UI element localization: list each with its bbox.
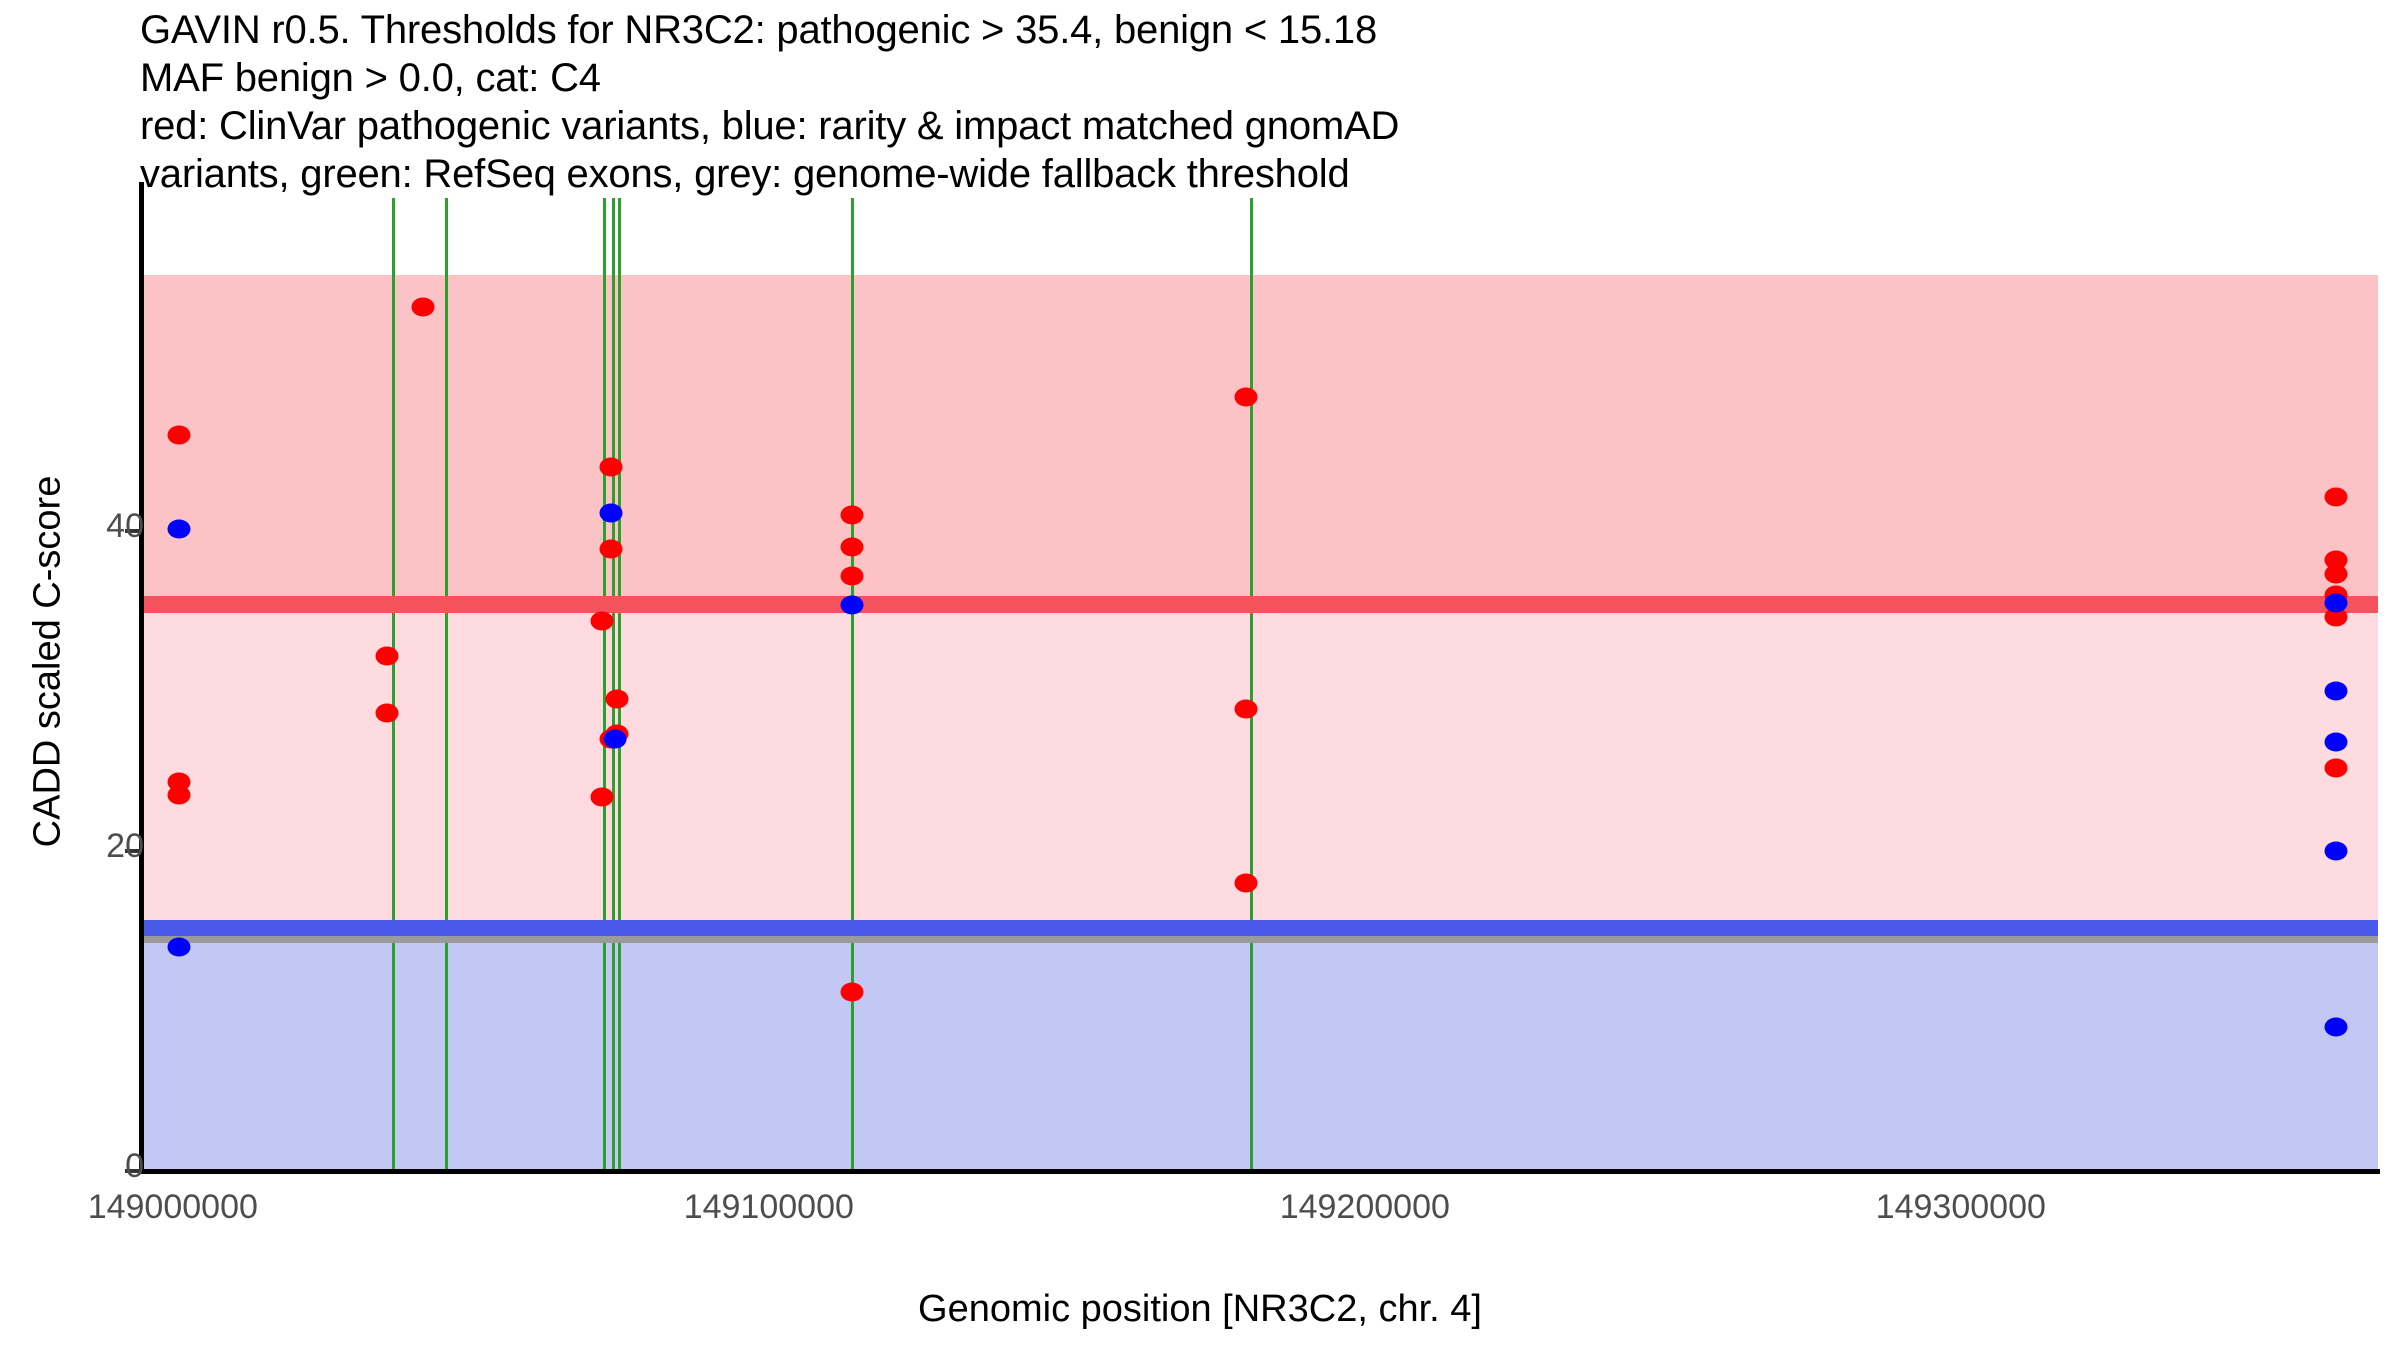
data-point-red xyxy=(2325,565,2348,584)
gavin-cadd-scatter-figure: GAVIN r0.5. Thresholds for NR3C2: pathog… xyxy=(0,0,2400,1350)
data-point-red xyxy=(841,982,864,1001)
pathogenic-threshold-line xyxy=(143,596,2378,613)
exon-line-5 xyxy=(618,198,621,1171)
y-axis-line xyxy=(139,182,144,1173)
data-point-red xyxy=(599,458,622,477)
exon-line-3 xyxy=(603,198,606,1171)
y-tick-label-20: 20 xyxy=(106,827,144,866)
band-benign xyxy=(143,939,2378,1171)
y-tick-label-0: 0 xyxy=(125,1147,144,1186)
x-tick-label-149200000: 149200000 xyxy=(1280,1188,1450,1227)
data-point-blue xyxy=(599,504,622,523)
data-point-red xyxy=(2325,488,2348,507)
exon-line-1 xyxy=(392,198,395,1171)
data-point-red xyxy=(2325,758,2348,777)
data-point-blue xyxy=(2325,594,2348,613)
exon-line-4 xyxy=(612,198,615,1171)
exon-line-6 xyxy=(851,198,854,1171)
data-point-red xyxy=(590,787,613,806)
data-point-blue xyxy=(2325,842,2348,861)
data-point-red xyxy=(376,646,399,665)
x-tick-label-149000000: 149000000 xyxy=(88,1188,258,1227)
data-point-red xyxy=(841,506,864,525)
data-point-red xyxy=(841,566,864,585)
data-point-red xyxy=(167,786,190,805)
data-point-red xyxy=(1234,699,1257,718)
exon-line-7 xyxy=(1250,198,1253,1171)
x-axis-title: Genomic position [NR3C2, chr. 4] xyxy=(0,1288,2400,1331)
data-point-blue xyxy=(2325,733,2348,752)
figure-title: GAVIN r0.5. Thresholds for NR3C2: pathog… xyxy=(140,6,2340,198)
title-line-1: GAVIN r0.5. Thresholds for NR3C2: pathog… xyxy=(140,6,2340,54)
title-line-2: MAF benign > 0.0, cat: C4 xyxy=(140,54,2340,102)
data-point-blue xyxy=(167,938,190,957)
x-tick-label-149300000: 149300000 xyxy=(1876,1188,2046,1227)
x-tick-label-149100000: 149100000 xyxy=(684,1188,854,1227)
data-point-blue xyxy=(2325,682,2348,701)
title-line-3: red: ClinVar pathogenic variants, blue: … xyxy=(140,102,2340,150)
data-point-blue xyxy=(167,520,190,539)
x-axis-line xyxy=(139,1169,2380,1174)
data-point-red xyxy=(1234,874,1257,893)
band-pathogenic xyxy=(143,275,2378,605)
data-point-blue xyxy=(2325,1018,2348,1037)
data-point-red xyxy=(599,539,622,558)
plot-panel xyxy=(143,198,2378,1171)
y-axis-title: CADD scaled C-score xyxy=(27,282,70,1042)
data-point-red xyxy=(376,704,399,723)
data-point-red xyxy=(1234,387,1257,406)
data-point-blue xyxy=(604,730,627,749)
data-point-red xyxy=(841,538,864,557)
benign-threshold-line xyxy=(143,920,2378,937)
fallback-threshold-line xyxy=(143,936,2378,943)
data-point-red xyxy=(412,298,435,317)
data-point-red xyxy=(605,690,628,709)
exon-line-2 xyxy=(445,198,448,1171)
band-intermediate xyxy=(143,605,2378,929)
data-point-red xyxy=(590,611,613,630)
title-line-4: variants, green: RefSeq exons, grey: gen… xyxy=(140,150,2340,198)
data-point-blue xyxy=(841,595,864,614)
data-point-red xyxy=(167,426,190,445)
y-tick-label-40: 40 xyxy=(106,507,144,546)
